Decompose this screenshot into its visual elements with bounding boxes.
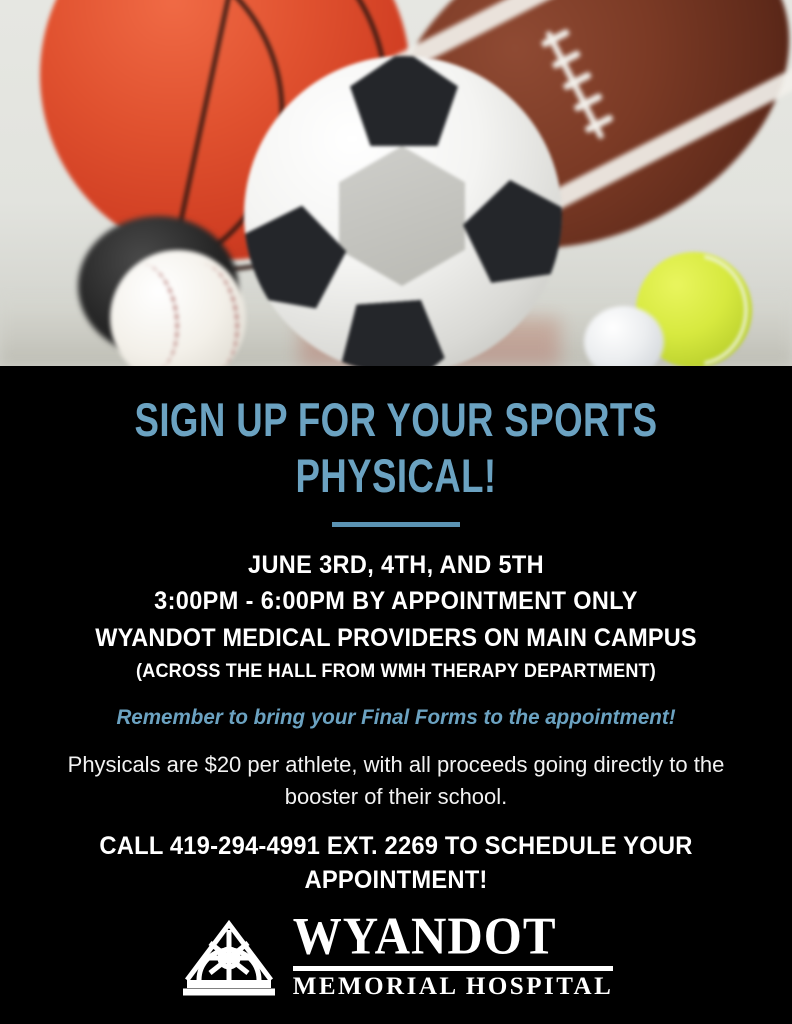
event-details: JUNE 3RD, 4TH, AND 5TH 3:00PM - 6:00PM B… [0,547,792,687]
soccer-pentagon [337,298,447,366]
call-to-action: CALL 419-294-4991 EXT. 2269 TO SCHEDULE … [20,829,772,897]
poster-content-panel: SIGN UP FOR YOUR SPORTS PHYSICAL! JUNE 3… [0,366,792,1024]
divider-rule [332,522,460,527]
event-location: WYANDOT MEDICAL PROVIDERS ON MAIN CAMPUS [24,619,768,657]
logo-name-top: WYANDOT [293,909,614,963]
soccer-hexagon [332,146,472,286]
sports-balls-photo [0,0,792,366]
soccer-pentagon [454,163,562,300]
event-date: JUNE 3RD, 4TH, AND 5TH [24,547,768,583]
event-time: 3:00PM - 6:00PM BY APPOINTMENT ONLY [24,583,768,619]
page-title: SIGN UP FOR YOUR SPORTS PHYSICAL! [87,366,705,504]
baseball-stitching [117,259,186,366]
soccer-pentagon [350,56,458,146]
reminder-text: Remember to bring your Final Forms to th… [8,701,784,735]
logo-divider [293,966,614,971]
logo-name-bottom: MEMORIAL HOSPITAL [293,973,614,1001]
price-note: Physicals are $20 per athlete, with all … [0,749,792,813]
gable-fan-window-icon [179,914,279,1000]
event-location-note: (ACROSS THE HALL FROM WMH THERAPY DEPART… [20,657,772,687]
hospital-logo: WYANDOT MEMORIAL HOSPITAL [0,913,792,1001]
soccer-ball-icon [244,56,562,366]
logo-wordmark: WYANDOT MEMORIAL HOSPITAL [293,913,614,1001]
